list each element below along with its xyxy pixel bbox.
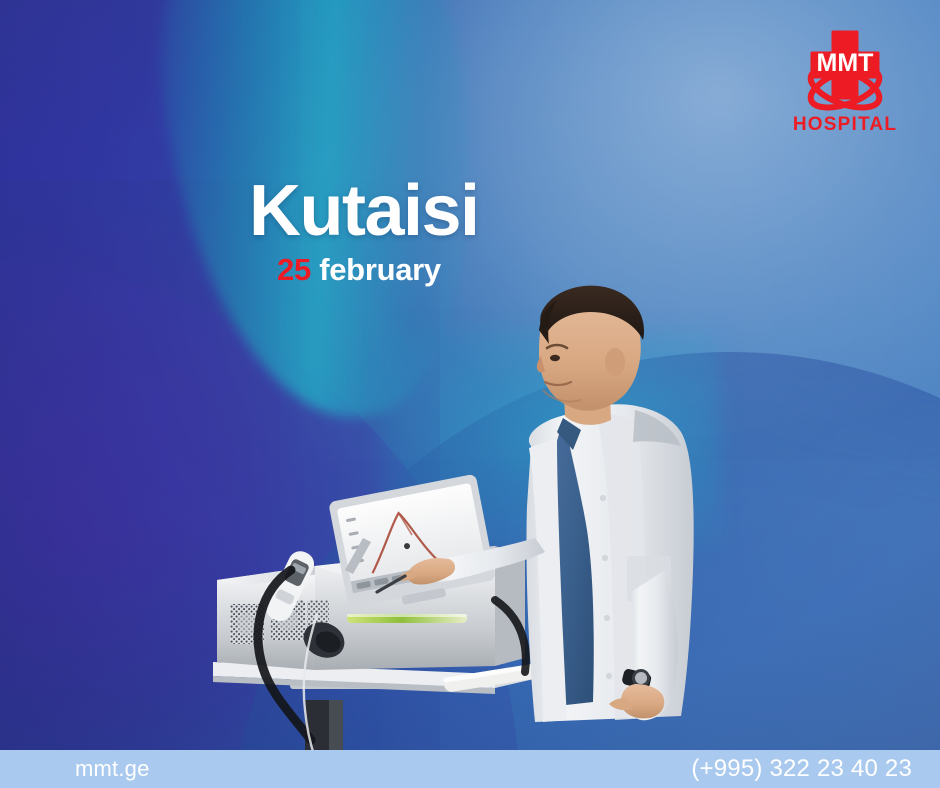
phone-label[interactable]: (+995) 322 23 40 23 — [691, 755, 912, 783]
website-label[interactable]: mmt.ge — [75, 756, 150, 782]
logo-wordmark: HOSPITAL — [793, 114, 897, 135]
doctor-device-photo — [195, 270, 755, 760]
logo-cross-text: MMT — [817, 49, 874, 77]
poster-canvas: MMT HOSPITAL Kutaisi 25 february — [0, 0, 940, 788]
city-title: Kutaisi — [249, 177, 669, 246]
mmt-hospital-logo: MMT HOSPITAL — [786, 26, 904, 138]
footer-bar: mmt.ge (+995) 322 23 40 23 — [0, 750, 940, 788]
